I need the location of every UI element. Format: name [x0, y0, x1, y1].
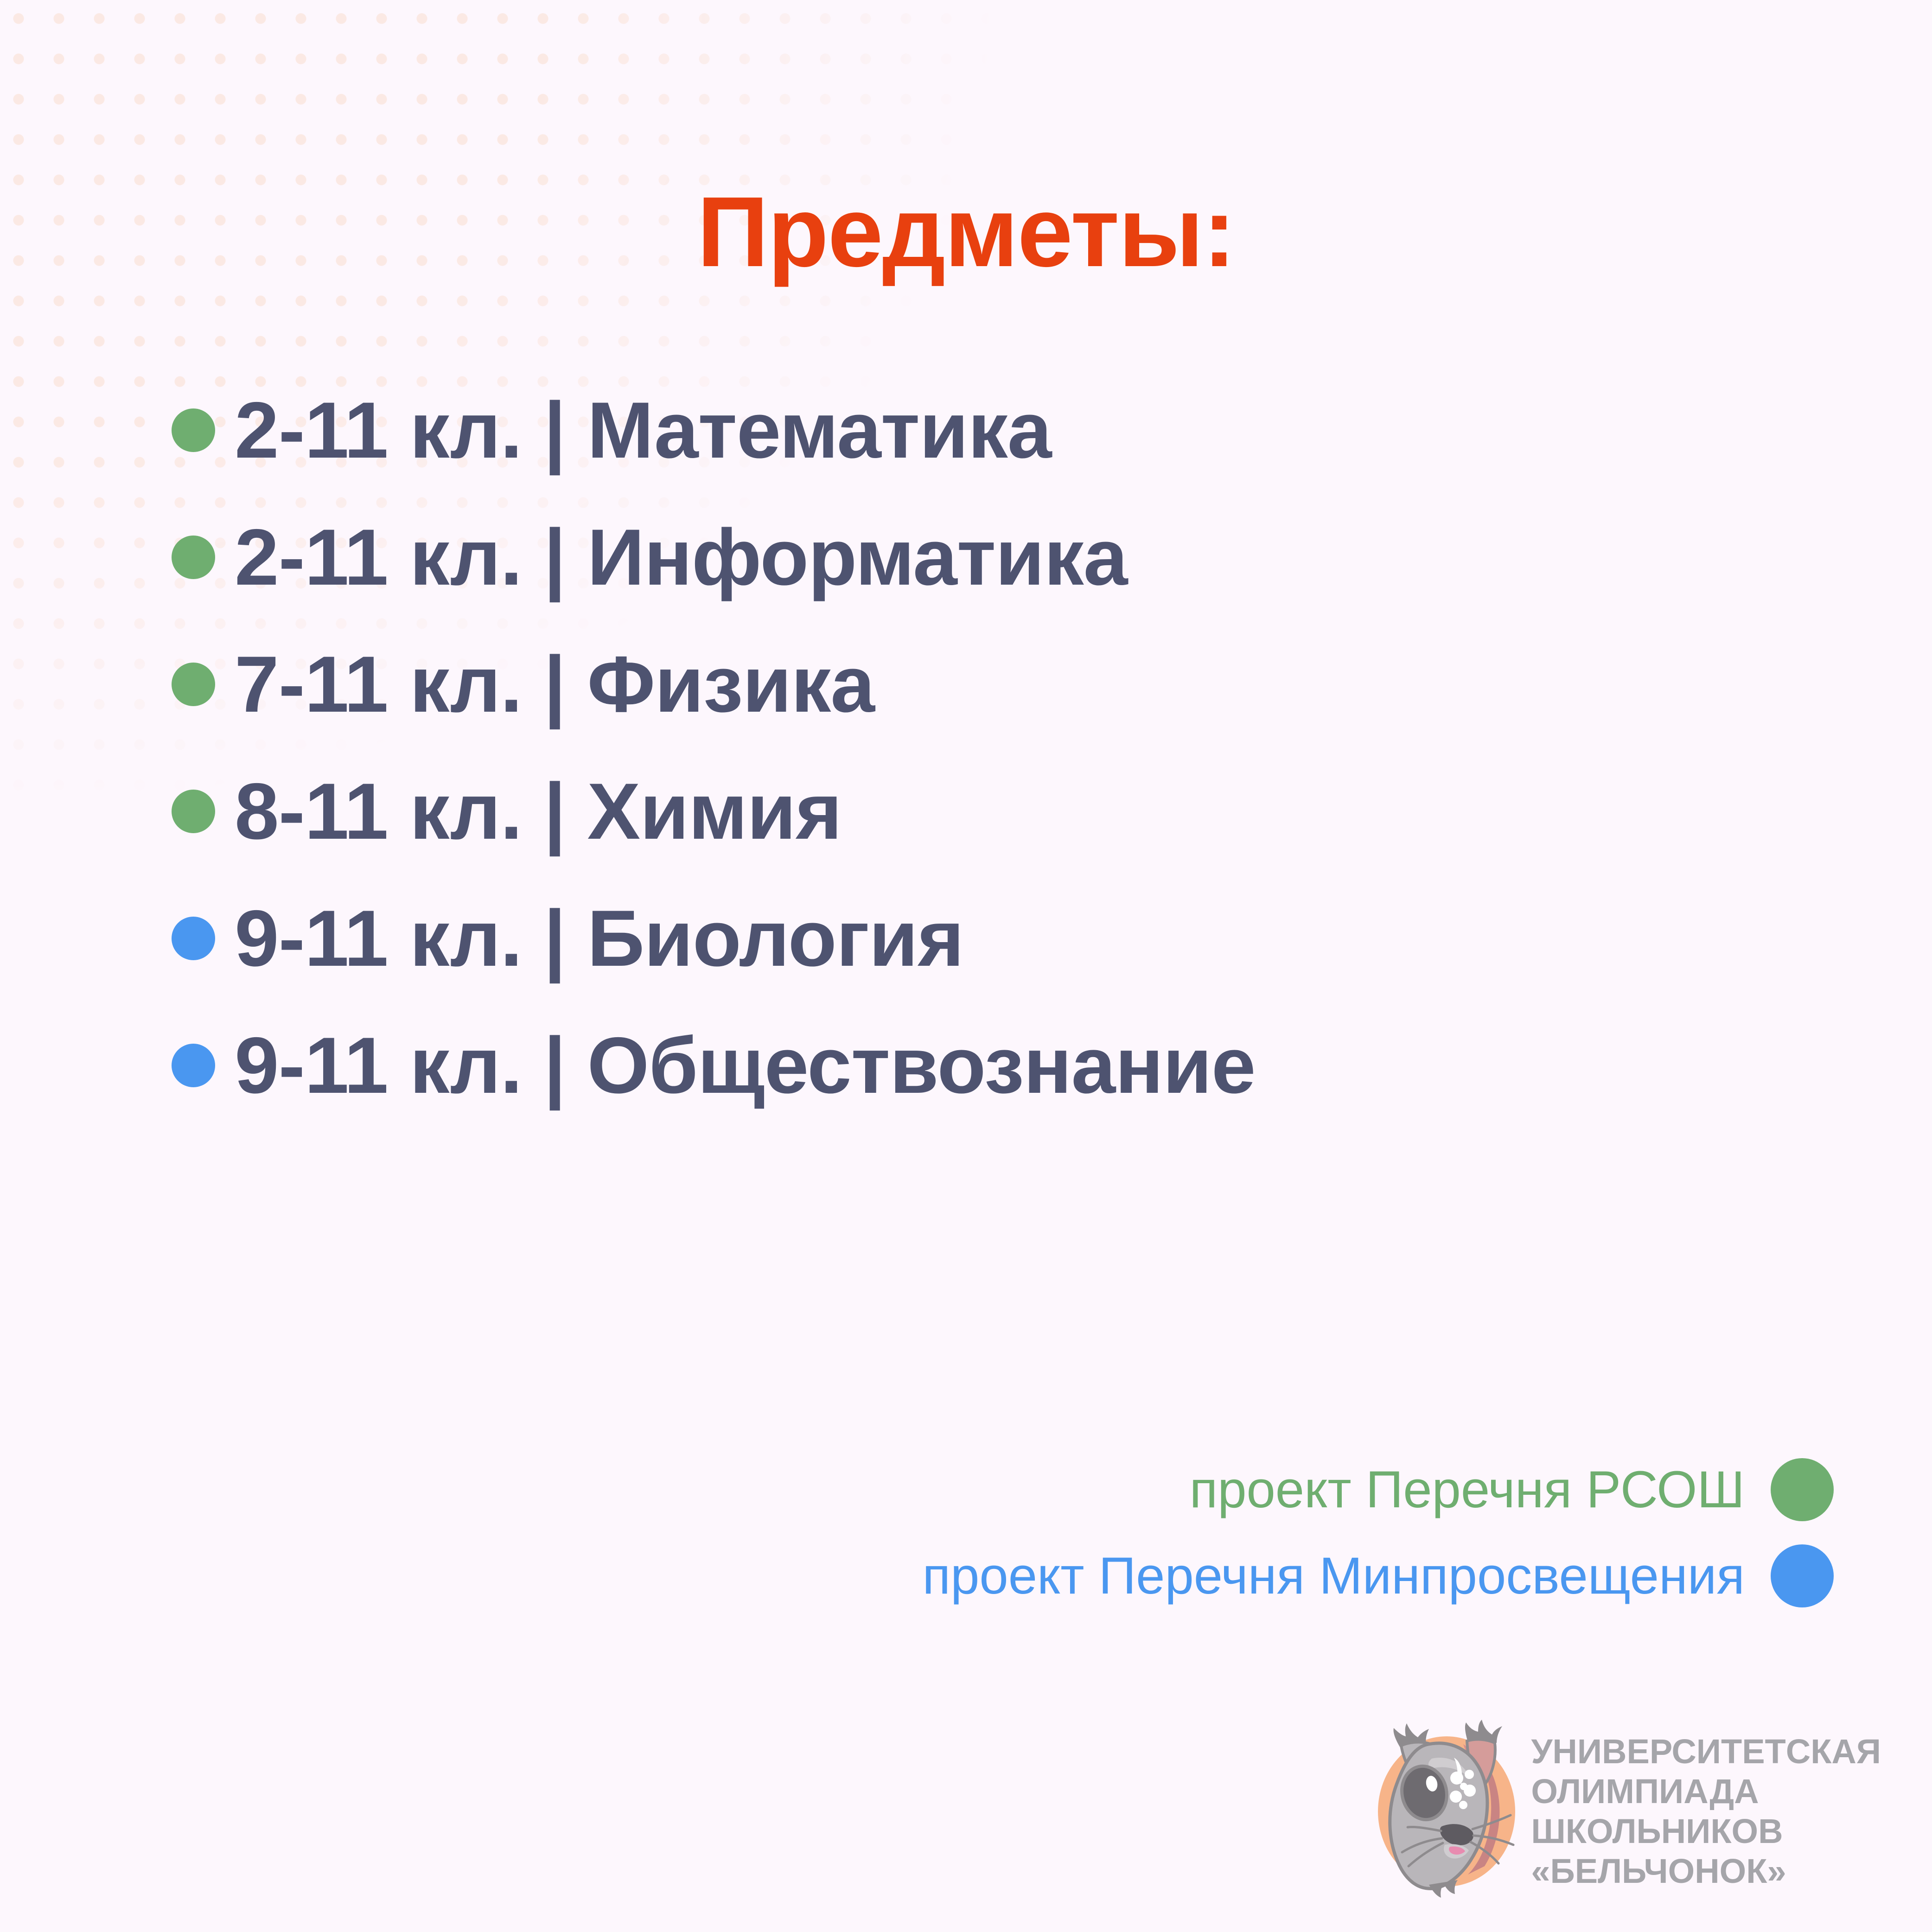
- squirrel-mascot-icon: [1372, 1719, 1525, 1904]
- legend: проект Перечня РСОШ проект Перечня Минпр…: [922, 1458, 1834, 1631]
- subject-label: 9-11 кл. | Биология: [235, 899, 963, 978]
- legend-label: проект Перечня РСОШ: [1190, 1464, 1745, 1516]
- legend-item-rsosh: проект Перечня РСОШ: [922, 1458, 1834, 1521]
- logo-line: «БЕЛЬЧОНОК»: [1531, 1851, 1881, 1891]
- subject-label: 7-11 кл. | Физика: [235, 644, 874, 724]
- organization-logo: УНИВЕРСИТЕТСКАЯ ОЛИМПИАДА ШКОЛЬНИКОВ «БЕ…: [1372, 1719, 1881, 1904]
- poster-canvas: Предметы: 2-11 кл. | Математика 2-11 кл.…: [0, 0, 1932, 1932]
- logo-line: ОЛИМПИАДА: [1531, 1772, 1881, 1811]
- legend-label: проект Перечня Минпросвещения: [922, 1550, 1745, 1602]
- legend-dot-icon-blue: [1771, 1544, 1834, 1607]
- bullet-icon-green: [172, 408, 215, 452]
- list-item: 7-11 кл. | Физика: [172, 638, 1794, 731]
- logo-wordmark: УНИВЕРСИТЕТСКАЯ ОЛИМПИАДА ШКОЛЬНИКОВ «БЕ…: [1531, 1732, 1881, 1891]
- subject-label: 8-11 кл. | Химия: [235, 772, 842, 851]
- subject-label: 9-11 кл. | Обществознание: [235, 1026, 1256, 1105]
- list-item: 2-11 кл. | Математика: [172, 384, 1794, 477]
- subject-label: 2-11 кл. | Информатика: [235, 517, 1127, 597]
- list-item: 9-11 кл. | Биология: [172, 892, 1794, 985]
- logo-line: ШКОЛЬНИКОВ: [1531, 1811, 1881, 1851]
- legend-item-minprosvescheniya: проект Перечня Минпросвещения: [922, 1544, 1834, 1607]
- list-item: 8-11 кл. | Химия: [172, 765, 1794, 858]
- logo-line: УНИВЕРСИТЕТСКАЯ: [1531, 1732, 1881, 1772]
- subject-list: 2-11 кл. | Математика 2-11 кл. | Информа…: [172, 384, 1794, 1146]
- subject-label: 2-11 кл. | Математика: [235, 390, 1051, 470]
- list-item: 2-11 кл. | Информатика: [172, 511, 1794, 604]
- bullet-icon-blue: [172, 1044, 215, 1087]
- bullet-icon-blue: [172, 917, 215, 960]
- page-title: Предметы:: [0, 182, 1932, 281]
- bullet-icon-green: [172, 790, 215, 833]
- bullet-icon-green: [172, 663, 215, 706]
- list-item: 9-11 кл. | Обществознание: [172, 1019, 1794, 1112]
- legend-dot-icon-green: [1771, 1458, 1834, 1521]
- bullet-icon-green: [172, 536, 215, 579]
